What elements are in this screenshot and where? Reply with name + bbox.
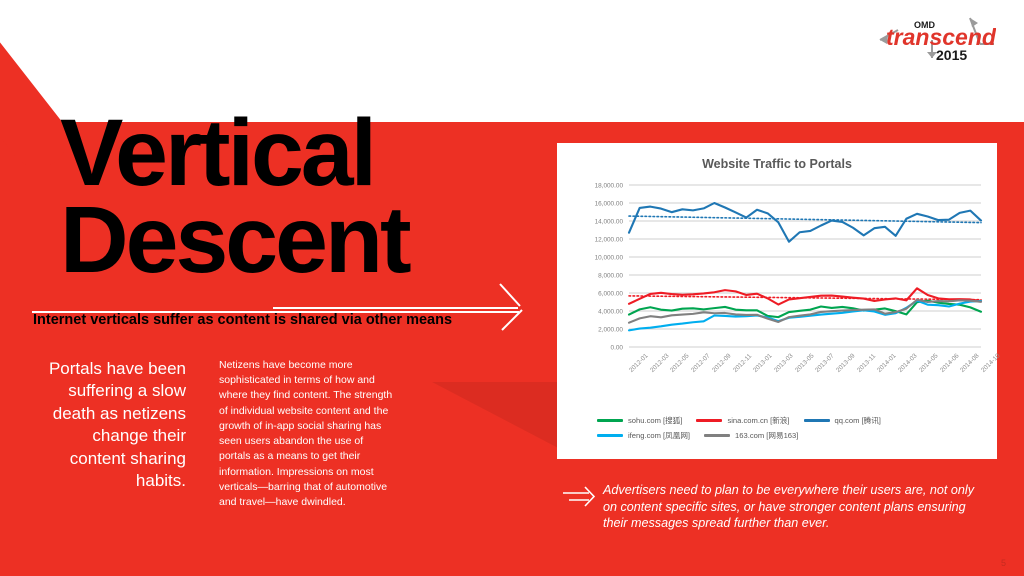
legend-color-swatch <box>704 434 730 437</box>
legend-item[interactable]: ifeng.com [凤凰网] <box>597 430 690 441</box>
omd-transcend-logo: OMD transcend 2015 <box>876 12 996 64</box>
chart-y-tick-label: 4,000.00 <box>598 309 623 316</box>
chart-legend: sohu.com [搜狐]sina.com.cn [新浪]qq.com [腾讯]… <box>597 415 977 445</box>
page-title: Vertical Descent <box>60 110 409 285</box>
legend-label: 163.com [网易163] <box>735 430 798 441</box>
callout-text: Advertisers need to plan to be everywher… <box>603 482 983 532</box>
slide-root: OMD transcend 2015 Vertical Descent Inte… <box>0 0 1024 576</box>
chart-card-shadow <box>432 382 562 450</box>
page-subtitle: Internet verticals suffer as content is … <box>33 311 503 331</box>
chart-y-tick-label: 14,000.00 <box>595 219 624 226</box>
chart-svg: 0.002,000.004,000.006,000.008,000.0010,0… <box>557 179 997 369</box>
legend-item[interactable]: qq.com [腾讯] <box>804 415 881 426</box>
legend-label: sohu.com [搜狐] <box>628 415 682 426</box>
chart-y-tick-label: 16,000.00 <box>595 201 624 208</box>
page-title-line-2: Descent <box>60 197 409 284</box>
chart-y-tick-label: 18,000.00 <box>595 183 624 190</box>
chart-y-tick-label: 2,000.00 <box>598 327 623 334</box>
chart-y-tick-label: 6,000.00 <box>598 291 623 298</box>
legend-color-swatch <box>597 434 623 437</box>
legend-row: ifeng.com [凤凰网]163.com [网易163] <box>597 430 977 441</box>
chart-y-tick-label: 8,000.00 <box>598 273 623 280</box>
chart-x-axis-labels: 2012-012012-032012-052012-072012-092012-… <box>557 365 997 413</box>
legend-item[interactable]: sohu.com [搜狐] <box>597 415 682 426</box>
chart-y-tick-label: 0.00 <box>611 345 624 352</box>
chart-card: Website Traffic to Portals 0.002,000.004… <box>557 143 997 459</box>
legend-item[interactable]: sina.com.cn [新浪] <box>696 415 789 426</box>
double-arrow-icon <box>563 486 597 508</box>
legend-color-swatch <box>804 419 830 422</box>
chart-y-tick-label: 10,000.00 <box>595 255 624 262</box>
callout-block: Advertisers need to plan to be everywher… <box>563 482 983 532</box>
chart-y-tick-label: 12,000.00 <box>595 237 624 244</box>
title-rule-upper <box>273 307 518 309</box>
chart-plot-area: 0.002,000.004,000.006,000.008,000.0010,0… <box>557 179 997 369</box>
legend-row: sohu.com [搜狐]sina.com.cn [新浪]qq.com [腾讯] <box>597 415 977 426</box>
page-number: 5 <box>1001 558 1006 568</box>
legend-color-swatch <box>696 419 722 422</box>
logo-year-text: 2015 <box>936 47 967 63</box>
legend-label: ifeng.com [凤凰网] <box>628 430 690 441</box>
legend-item[interactable]: 163.com [网易163] <box>704 430 798 441</box>
legend-label: sina.com.cn [新浪] <box>727 415 789 426</box>
legend-label: qq.com [腾讯] <box>835 415 881 426</box>
chart-series-line <box>629 203 981 242</box>
pull-quote: Portals have been suffering a slow death… <box>34 358 186 493</box>
legend-color-swatch <box>597 419 623 422</box>
body-paragraph: Netizens have become more sophisticated … <box>219 358 394 510</box>
chart-title: Website Traffic to Portals <box>557 157 997 171</box>
logo-artwork: OMD transcend 2015 <box>876 12 996 64</box>
